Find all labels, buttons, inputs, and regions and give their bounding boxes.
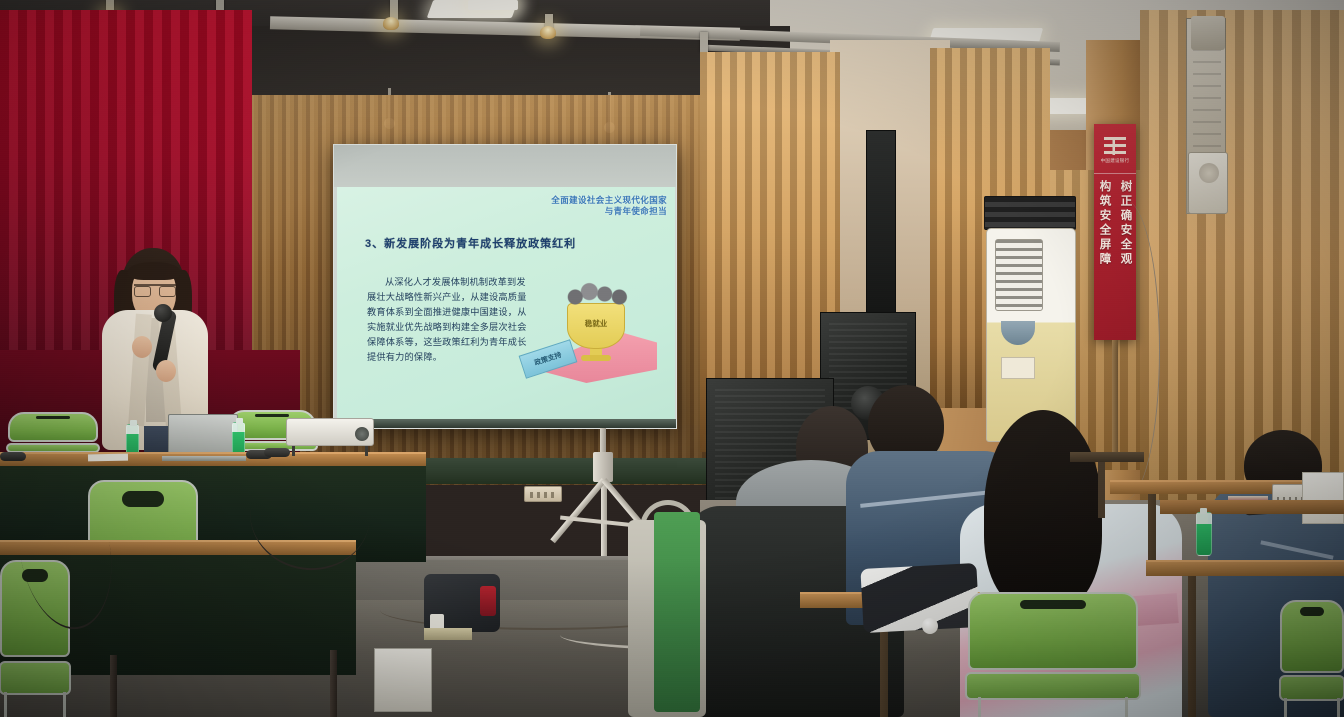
laptop-base [162,456,246,461]
desk-leg [1188,576,1196,717]
chair-back [968,592,1138,670]
slide-header-line-1: 全面建设社会主义现代化国家 [551,195,667,206]
banner-logo-caption: 中国建设银行 [1101,158,1130,164]
table-leg [330,650,337,717]
chair-legs [4,692,66,717]
ceiling-lamp [540,26,556,39]
ac-control-panel [1001,357,1035,379]
bank-logo-icon [1104,137,1126,155]
paper-sheet [88,454,128,462]
presenter-hand [156,360,176,382]
water-bottle-icon [1196,512,1212,556]
presentation-slide: 全面建设社会主义现代化国家 与青年使命担当 3、新发展阶段为青年成长释放政策红利… [337,187,675,427]
chair-legs [978,697,1128,717]
screen-bottom-bar [334,419,676,428]
chair-seat [0,661,71,696]
rice-bowl-icon: 稳就业 [567,303,625,349]
bag-icon [860,563,979,633]
audience-desk [1146,560,1344,576]
slide-header: 全面建设社会主义现代化国家 与青年使命担当 [551,195,667,216]
people-group-icon [565,279,629,309]
chair-seat [965,672,1142,700]
slide-title: 3、新发展阶段为青年成长释放政策红利 [365,235,576,251]
desk-leg [1148,494,1156,564]
bowl-base [581,355,611,361]
presenter-bangs [128,262,180,280]
side-table [1070,452,1144,462]
loudspeaker-icon [866,130,896,320]
screen-blank-top-band [334,145,676,187]
tripod-head [593,452,613,482]
ceiling-hanger [700,32,708,52]
ceiling-light-panel [468,0,518,10]
slide-header-line-2: 与青年使命担当 [551,206,667,217]
table-leg [110,655,117,717]
green-bag-icon [654,512,700,712]
microphone-head [154,304,172,322]
microphone-icon [264,448,290,457]
ac-vent [1001,321,1035,345]
microphone-icon [0,452,26,461]
audience-bench [1160,500,1344,514]
projector-icon [286,418,374,446]
chair-back-hole [1020,600,1086,610]
slide-illustration: 稳就业 政策支持 [521,273,661,391]
ball-icon [922,618,938,634]
chair-back [1280,600,1344,673]
chair-back-hole [255,414,289,417]
slide-body-text: 从深化人才发展体制机制改革到发展壮大战略性新兴产业，从建设高质量教育体系到全面推… [367,275,535,364]
projection-screen: 全面建设社会主义现代化国家 与青年使命担当 3、新发展阶段为青年成长释放政策红利… [333,144,677,429]
side-table-leg [1098,462,1105,518]
bowl-label: 稳就业 [568,318,624,329]
banquet-chair [968,592,1138,717]
banquet-chair [1280,600,1344,717]
chair-back-hole [1300,607,1324,616]
chair-seat [1279,675,1344,701]
wall-outlet-icon [524,486,562,502]
chair-back-hole [36,416,70,419]
long-hair [984,410,1102,610]
sign-card [1302,472,1344,524]
wall-speaker-icon [1191,16,1225,50]
policy-banner-label: 政策支持 [533,350,563,368]
av-equipment-stack [984,196,1076,230]
presenter-hand [132,336,152,358]
white-equipment-box [374,648,432,712]
chair-back-hole [122,491,164,506]
banner-logo: 中国建设银行 [1094,128,1136,174]
ac-grill [995,239,1043,311]
projector-legs [292,446,368,456]
glasses-icon [134,284,176,294]
lecture-hall-photo: 中国建设银行 构筑安全屏障 树正确安全观 全面建设社会主义现代化国家 与青年使命… [0,0,1344,717]
chair-legs [1284,698,1340,717]
ceiling-lamp [383,17,399,30]
wall-mounted-box [1188,152,1228,214]
power-strip-icon [424,628,472,640]
chair-back [8,412,98,442]
